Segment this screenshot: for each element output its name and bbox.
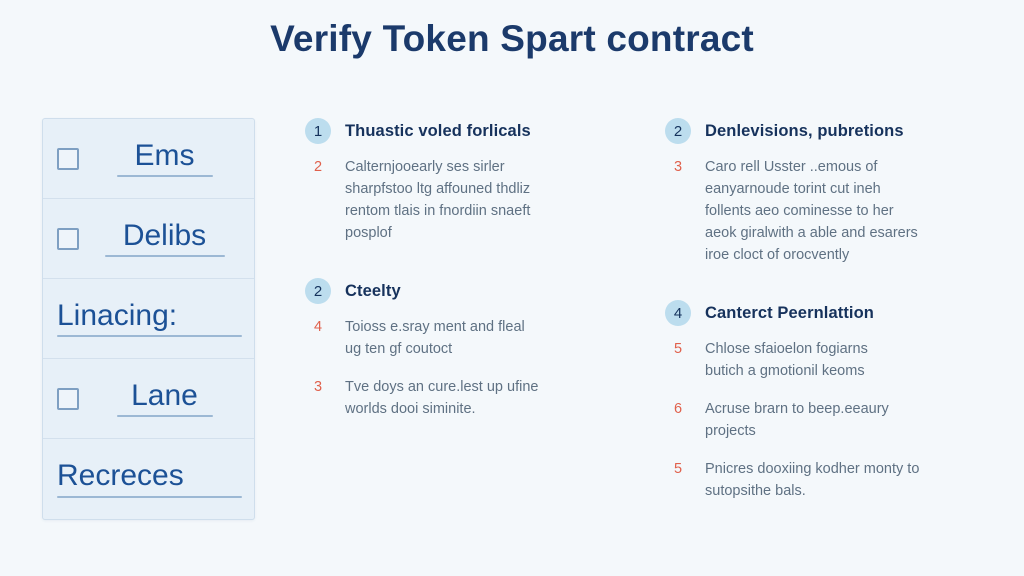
sidebar-row-label: Linacing:: [57, 300, 177, 332]
sidebar-label-group: Recreces: [57, 460, 242, 498]
list-item: 4Toioss e.sray ment and flealug ten gf c…: [305, 316, 635, 360]
list-item: 5Pnicres dooxiing kodher monty tosutopsi…: [665, 458, 995, 502]
checkbox-icon[interactable]: [57, 388, 79, 410]
sidebar-panel: EmsDelibsLinacing:LaneRecreces: [42, 118, 255, 520]
sidebar-row[interactable]: Recreces: [43, 439, 254, 519]
sidebar-row-label: Ems: [135, 140, 195, 172]
list-item-line: iroe cloct of orocvently: [705, 244, 995, 266]
section-heading: Thuastic voled forlicals: [345, 122, 531, 141]
list-item-text: Pnicres dooxiing kodher monty tosutopsit…: [705, 458, 995, 502]
list-item: 3Caro rell Usster ..emous ofeanyarnoude …: [665, 156, 995, 266]
section-heading: Denlevisions, pubretions: [705, 122, 904, 141]
list-item-line: aeok giralwith a able and esarers: [705, 222, 995, 244]
column-left: 1Thuastic voled forlicals2Calternjooearl…: [305, 118, 635, 520]
list-item-line: Pnicres dooxiing kodher monty to: [705, 458, 995, 480]
list-item-line: follents aeo cominesse to her: [705, 200, 995, 222]
section-header: 4Canterct Peernlattion: [665, 300, 995, 326]
section-number-badge: 1: [305, 118, 331, 144]
list-item-text: Acruse brarn to beep.eeauryprojects: [705, 398, 995, 442]
list-item-marker: 3: [305, 376, 331, 420]
content-section: 1Thuastic voled forlicals2Calternjooearl…: [305, 118, 635, 244]
sidebar-row-underline: [105, 255, 225, 257]
section-header: 2Cteelty: [305, 278, 635, 304]
list-item-text: Chlose sfaioelon fogiarnsbutich a gmotio…: [705, 338, 995, 382]
list-item-marker: 3: [665, 156, 691, 266]
list-item-marker: 5: [665, 338, 691, 382]
list-item-line: butich a gmotionil keoms: [705, 360, 995, 382]
list-item: 3Tve doys an cure.lest up ufineworlds do…: [305, 376, 635, 420]
list-item-line: rentom tlais in fnordiin snaeft: [345, 200, 635, 222]
content-section: 2Denlevisions, pubretions3Caro rell Usst…: [665, 118, 995, 266]
sidebar-row[interactable]: Linacing:: [43, 279, 254, 359]
sidebar-row[interactable]: Delibs: [43, 199, 254, 279]
sidebar-label-group: Ems: [89, 140, 240, 178]
sidebar-row[interactable]: Lane: [43, 359, 254, 439]
list-item-marker: 6: [665, 398, 691, 442]
list-item-line: worlds dooi siminite.: [345, 398, 635, 420]
list-item-line: Chlose sfaioelon fogiarns: [705, 338, 995, 360]
list-item-line: projects: [705, 420, 995, 442]
sidebar-row[interactable]: Ems: [43, 119, 254, 199]
list-item-line: Calternjooearly ses sirler: [345, 156, 635, 178]
sidebar-row-label: Lane: [131, 380, 198, 412]
infographic-page: Verify Token Spart contract EmsDelibsLin…: [0, 0, 1024, 576]
list-item-marker: 5: [665, 458, 691, 502]
section-heading: Canterct Peernlattion: [705, 304, 874, 323]
list-item-line: sutopsithe bals.: [705, 480, 995, 502]
list-item: 6Acruse brarn to beep.eeauryprojects: [665, 398, 995, 442]
list-item-marker: 2: [305, 156, 331, 244]
sidebar-label-group: Lane: [89, 380, 240, 418]
section-header: 1Thuastic voled forlicals: [305, 118, 635, 144]
list-item-marker: 4: [305, 316, 331, 360]
list-item-line: sharpfstoo ltg affouned thdliz: [345, 178, 635, 200]
section-number-badge: 2: [305, 278, 331, 304]
list-item-line: Acruse brarn to beep.eeaury: [705, 398, 995, 420]
list-item-line: Caro rell Usster ..emous of: [705, 156, 995, 178]
list-item-line: Toioss e.sray ment and fleal: [345, 316, 635, 338]
section-number-badge: 4: [665, 300, 691, 326]
section-number-badge: 2: [665, 118, 691, 144]
sidebar-row-label: Delibs: [123, 220, 206, 252]
section-header: 2Denlevisions, pubretions: [665, 118, 995, 144]
list-item: 2Calternjooearly ses sirlersharpfstoo lt…: [305, 156, 635, 244]
sidebar-label-group: Linacing:: [57, 300, 242, 338]
list-item-text: Tve doys an cure.lest up ufineworlds doo…: [345, 376, 635, 420]
column-right: 2Denlevisions, pubretions3Caro rell Usst…: [665, 118, 995, 520]
content-section: 4Canterct Peernlattion5Chlose sfaioelon …: [665, 300, 995, 502]
list-item-line: eanyarnoude torint cut ineh: [705, 178, 995, 200]
section-heading: Cteelty: [345, 282, 401, 301]
content-columns: 1Thuastic voled forlicals2Calternjooearl…: [305, 118, 995, 520]
sidebar-row-underline: [57, 496, 242, 498]
list-item-text: Caro rell Usster ..emous ofeanyarnoude t…: [705, 156, 995, 266]
checkbox-icon[interactable]: [57, 148, 79, 170]
sidebar-row-underline: [57, 335, 242, 337]
content-section: 2Cteelty4Toioss e.sray ment and flealug …: [305, 278, 635, 420]
list-item-text: Calternjooearly ses sirlersharpfstoo ltg…: [345, 156, 635, 244]
sidebar-label-group: Delibs: [89, 220, 240, 258]
list-item-line: ug ten gf coutoct: [345, 338, 635, 360]
checkbox-icon[interactable]: [57, 228, 79, 250]
list-item-text: Toioss e.sray ment and flealug ten gf co…: [345, 316, 635, 360]
list-item-line: Tve doys an cure.lest up ufine: [345, 376, 635, 398]
sidebar-row-label: Recreces: [57, 460, 184, 492]
list-item: 5Chlose sfaioelon fogiarnsbutich a gmoti…: [665, 338, 995, 382]
list-item-line: posplof: [345, 222, 635, 244]
page-title: Verify Token Spart contract: [0, 18, 1024, 60]
sidebar-row-underline: [117, 175, 213, 177]
sidebar-row-underline: [117, 415, 213, 417]
